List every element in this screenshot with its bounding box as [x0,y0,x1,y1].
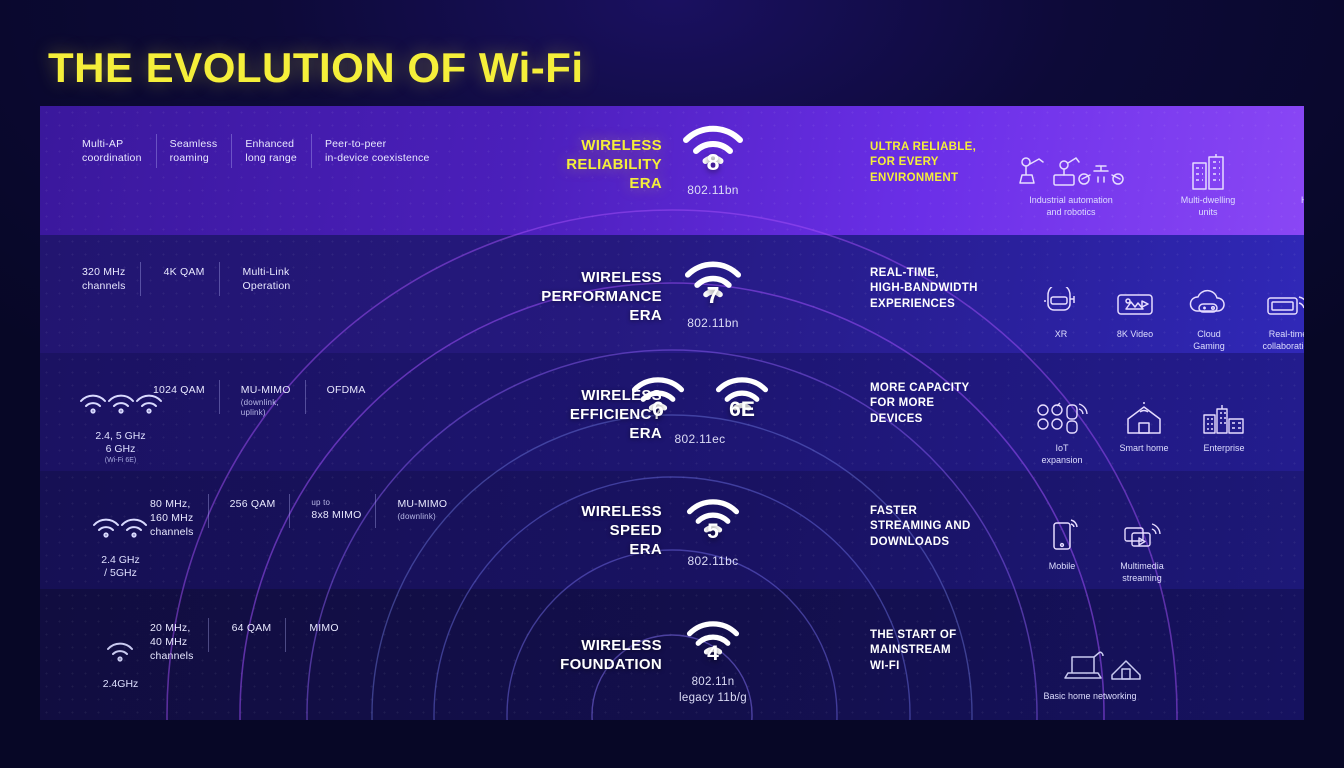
feature-chip: 64 QAM [208,622,286,636]
features-wifi8: Multi-AP coordination Seamless roaming E… [68,138,444,166]
use-case-item: XR [1024,264,1098,341]
frequency-label: 2.4, 5 GHz 6 GHz [95,430,145,455]
enterprise-icon [1187,390,1261,430]
stadium-icon [1278,142,1304,182]
feature-chip: 320 MHz channels [68,266,140,294]
feature-chip: Peer-to-peer in-device coexistence [311,138,444,166]
collaboration-icon [1246,276,1304,316]
frequency-label: 2.4GHz [103,678,139,690]
usecases-wifi8: Industrial automation and robotics Multi… [1008,130,1304,219]
apartment-icon [1160,142,1256,182]
feature-chip: 20 MHz, 40 MHz channels [132,622,208,664]
feature-chip: MIMO [285,622,352,636]
use-case-label: Mobile [1049,561,1076,571]
generation-number: 6E [713,398,771,422]
use-case-label: IoT expansion [1041,443,1082,465]
use-case-item: Enterprise [1187,378,1261,455]
generation-group-wifi4: 4 802.11n legacy 11b/g [620,618,806,706]
page-title: THE EVOLUTION OF Wi-Fi [48,44,584,92]
wifi-generation-badge: 6 [629,374,687,419]
standard-label: 802.11bc [620,553,806,569]
use-case-label: Real-time collaboration [1262,329,1304,351]
headline-wifi6: MORE CAPACITY FOR MORE DEVICES [870,381,1000,427]
standard-label: 802.11ec [592,431,808,447]
infographic-root: THE EVOLUTION OF Wi-Fi Multi-AP coordina… [0,0,1344,768]
feature-chip: OFDMA [305,384,380,398]
generation-number: 8 [680,149,746,176]
feature-chip: 1024 QAM [135,384,219,398]
feature-chip: Enhanced long range [231,138,311,166]
features-wifi6: 1024 QAM MU-MIMO(downlink, uplink) OFDMA [135,384,380,419]
multimedia-icon [1105,508,1179,548]
iot-devices-icon [1025,390,1099,430]
use-case-item: Real-time collaboration [1246,264,1304,353]
timeline-panel: Multi-AP coordination Seamless roaming E… [40,106,1304,720]
generation-group-wifi7: 7 802.11bn [620,258,806,331]
generation-group-wifi6: 6 6E 802.11ec [592,374,808,447]
cloud-gaming-icon [1172,276,1246,316]
use-case-item: Mobile [1025,496,1099,573]
use-case-label: High-density venues [1301,195,1304,217]
wifi-generation-badge: 7 [680,258,746,306]
usecases-wifi6: IoT expansion Smart home [1025,378,1261,467]
feature-chip: MU-MIMO(downlink) [375,498,461,522]
vr-headset-icon [1024,276,1098,316]
feature-chip: 80 MHz, 160 MHz channels [132,498,208,540]
use-case-item: Cloud Gaming [1172,264,1246,353]
mobile-phone-icon [1025,508,1099,548]
generation-number: 7 [680,282,746,309]
video-screen-icon [1098,276,1172,316]
feature-chip: Multi-Link Operation [219,266,305,294]
features-wifi4: 20 MHz, 40 MHz channels 64 QAM MIMO [132,622,353,664]
generation-group-wifi5: 5 802.11bc [620,496,806,569]
robot-arm-icon [1008,142,1134,182]
standard-label: 802.11n legacy 11b/g [620,675,806,706]
use-case-item: Multimedia streaming [1105,496,1179,585]
wifi-generation-badge: 5 [680,496,746,541]
headline-wifi5: FASTER STREAMING AND DOWNLOADS [870,504,1000,550]
generation-number: 6 [629,398,687,422]
use-case-item: Smart home [1107,378,1181,455]
generation-group-wifi8: 8 802.11bn [620,122,806,198]
smart-home-icon [1107,390,1181,430]
generation-number: 5 [680,520,746,544]
use-case-label: Cloud Gaming [1193,329,1225,351]
features-wifi7: 320 MHz channels 4K QAM Multi-Link Opera… [68,266,304,294]
wifi-generation-badge: 4 [680,618,746,663]
use-case-item: IoT expansion [1025,378,1099,467]
headline-wifi7: REAL-TIME, HIGH-BANDWIDTH EXPERIENCES [870,266,1000,312]
use-case-label: Multimedia streaming [1120,561,1164,583]
use-case-item: High-density venues [1278,130,1304,219]
frequency-label: 2.4 GHz / 5GHz [101,554,140,579]
feature-chip: up to8x8 MIMO [289,498,375,522]
use-case-label: 8K Video [1117,329,1153,339]
features-wifi5: 80 MHz, 160 MHz channels 256 QAM up to8x… [132,498,461,540]
use-case-label: Smart home [1119,443,1168,453]
use-case-item: Multi-dwelling units [1160,130,1256,219]
laptop-icon [1005,638,1175,678]
use-case-label: XR [1055,329,1068,339]
usecases-wifi4: Basic home networking [1005,626,1175,703]
use-case-item: Industrial automation and robotics [1008,130,1134,219]
wifi-generation-badge: 8 [680,122,746,173]
feature-chip: MU-MIMO(downlink, uplink) [219,384,305,419]
wifi-generation-badge: 6E [713,374,771,419]
use-case-item: 8K Video [1098,264,1172,341]
use-case-item: Basic home networking [1005,626,1175,703]
use-case-label: Basic home networking [1043,691,1136,701]
feature-chip: Seamless roaming [156,138,232,166]
frequency-sublabel: (Wi-Fi 6E) [68,457,173,466]
feature-chip: 256 QAM [208,498,290,512]
use-case-label: Multi-dwelling units [1181,195,1236,217]
use-case-label: Enterprise [1203,443,1244,453]
standard-label: 802.11bn [620,315,806,331]
use-case-label: Industrial automation and robotics [1029,195,1113,217]
generation-number: 4 [680,642,746,666]
usecases-wifi5: Mobile Multimedia streaming [1025,496,1179,585]
feature-chip: 4K QAM [140,266,219,280]
usecases-wifi7: XR 8K Video Cloud Gaming [1024,264,1304,353]
standard-label: 802.11bn [620,182,806,198]
headline-wifi8: ULTRA RELIABLE, FOR EVERY ENVIRONMENT [870,140,1000,186]
headline-wifi4: THE START OF MAINSTREAM WI-FI [870,628,1000,674]
feature-chip: Multi-AP coordination [68,138,156,166]
